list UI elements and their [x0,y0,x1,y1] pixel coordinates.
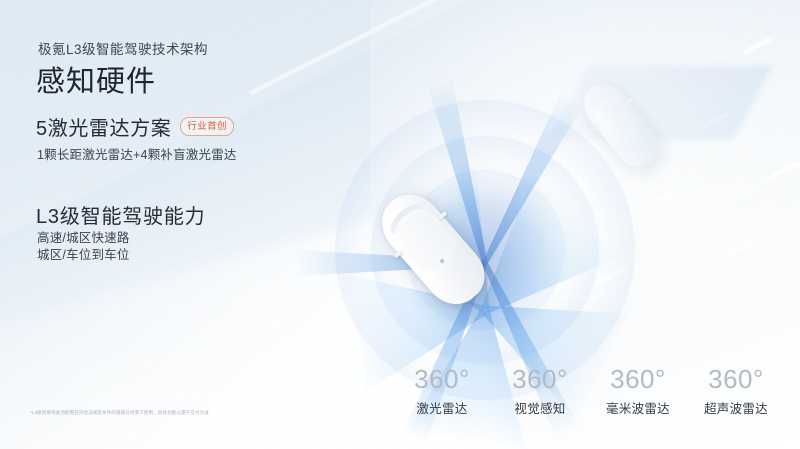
metric-value: 360° [496,366,584,393]
feature-l3-title: L3级智能驾驶能力 [36,200,205,229]
metric-label: 超声波雷达 [692,398,780,417]
feature-lidar: 5激光雷达方案 行业首创 [36,112,234,141]
slide-canvas: 极氪L3级智能驾驶技术架构 感知硬件 5激光雷达方案 行业首创 1颗长距激光雷达… [0,0,800,449]
lane-dash [771,161,800,178]
car-mirror [626,98,633,105]
metric-value: 360° [594,366,682,393]
feature-l3-line-2: 城区/车位到车位 [37,247,130,264]
metric-label: 毫米波雷达 [594,398,682,417]
lane-dash [701,111,730,128]
lane-dash [727,239,756,256]
road-edge-line [249,0,800,95]
page-title: 感知硬件 [36,58,156,100]
lane-dash [649,189,678,206]
metric-ultrasonic: 360° 超声波雷达 [692,366,780,417]
metric-lidar: 360° 激光雷达 [398,366,486,417]
status-badge: 行业首创 [180,117,234,136]
sensor-metrics-row: 360° 激光雷达 360° 视觉感知 360° 毫米波雷达 360° 超声波雷… [398,366,780,417]
lane-dash [743,37,772,54]
metric-vision: 360° 视觉感知 [496,366,584,417]
metric-value: 360° [692,366,780,393]
metric-label: 视觉感知 [496,398,584,417]
feature-lidar-subtitle: 1颗长距激光雷达+4颗补盲激光雷达 [37,144,237,163]
disclaimer-text: *L3级智能驾驶功能需在符合法规及条件的道路与场景下使用，具体功能以量产交付为准 [30,409,209,416]
feature-l3-line-1: 高速/城区快速路 [37,230,130,247]
slide-eyebrow: 极氪L3级智能驾驶技术架构 [38,38,208,58]
metric-mmwave: 360° 毫米波雷达 [594,366,682,417]
sensor-coverage-graphic [320,105,650,395]
feature-lidar-title: 5激光雷达方案 [36,112,171,141]
metric-value: 360° [398,366,486,393]
feature-l3-details: 高速/城区快速路 城区/车位到车位 [37,230,130,264]
metric-label: 激光雷达 [398,398,486,417]
